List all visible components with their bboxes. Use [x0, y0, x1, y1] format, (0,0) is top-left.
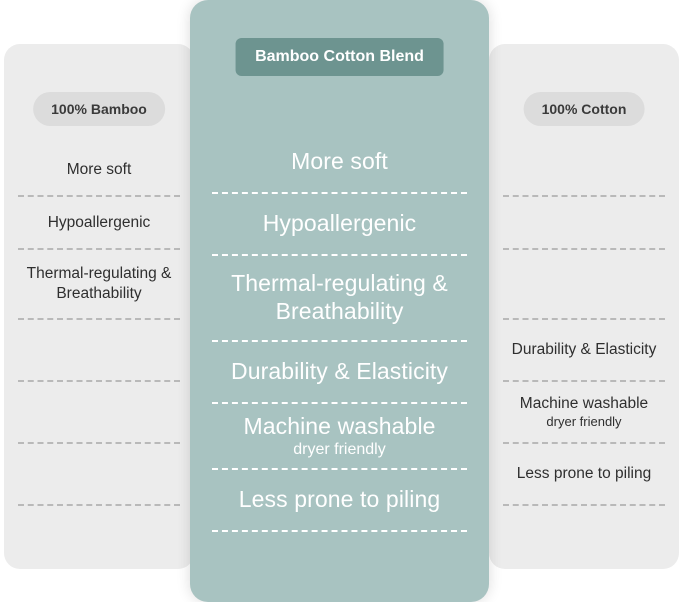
bamboo-feature-row: [18, 382, 180, 444]
cotton-feature-row: [503, 197, 665, 250]
cotton-feature-row: Machine washabledryer friendly: [503, 382, 665, 444]
cotton-feature-row: [503, 250, 665, 320]
bamboo-feature-list: More softHypoallergenicThermal-regulatin…: [18, 144, 180, 506]
cotton-feature-row-label: Less prone to piling: [517, 464, 651, 484]
cotton-card: 100% Cotton Durability & ElasticityMachi…: [489, 44, 679, 569]
blend-feature-row-label: Durability & Elasticity: [231, 358, 448, 386]
blend-feature-row: Hypoallergenic: [212, 194, 467, 256]
comparison-chart: 100% Bamboo More softHypoallergenicTherm…: [0, 0, 679, 602]
bamboo-feature-row-label: Hypoallergenic: [48, 213, 151, 233]
cotton-feature-row-label: Durability & Elasticity: [512, 340, 657, 360]
cotton-card-title: 100% Cotton: [524, 92, 645, 126]
blend-card-title: Bamboo Cotton Blend: [235, 38, 444, 76]
blend-feature-row-label: Hypoallergenic: [263, 210, 417, 238]
bamboo-feature-row-label: More soft: [67, 160, 132, 180]
cotton-feature-row-sublabel: dryer friendly: [546, 414, 621, 430]
bamboo-feature-row: Hypoallergenic: [18, 197, 180, 250]
blend-feature-row-label: Less prone to piling: [239, 486, 440, 514]
bamboo-feature-row: [18, 444, 180, 506]
blend-feature-row: More soft: [212, 132, 467, 194]
bamboo-feature-row: Thermal-regulating & Breathability: [18, 250, 180, 320]
bamboo-cotton-blend-card: Bamboo Cotton Blend More softHypoallerge…: [190, 0, 489, 602]
blend-feature-row: Durability & Elasticity: [212, 342, 467, 404]
blend-feature-row: Machine washabledryer friendly: [212, 404, 467, 470]
blend-feature-row-label: Machine washable: [243, 413, 435, 441]
blend-feature-row: Thermal-regulating & Breathability: [212, 256, 467, 342]
bamboo-feature-row: More soft: [18, 144, 180, 197]
blend-feature-list: More softHypoallergenicThermal-regulatin…: [212, 132, 467, 532]
blend-feature-row-label: Thermal-regulating & Breathability: [212, 270, 467, 325]
cotton-feature-row: Less prone to piling: [503, 444, 665, 506]
cotton-feature-list: Durability & ElasticityMachine washabled…: [503, 144, 665, 506]
blend-feature-row-sublabel: dryer friendly: [293, 440, 385, 459]
bamboo-card: 100% Bamboo More softHypoallergenicTherm…: [4, 44, 194, 569]
cotton-feature-row-label: Machine washable: [520, 394, 648, 414]
blend-feature-row: Less prone to piling: [212, 470, 467, 532]
bamboo-card-title: 100% Bamboo: [33, 92, 165, 126]
bamboo-feature-row: [18, 320, 180, 382]
cotton-feature-row: [503, 144, 665, 197]
cotton-feature-row: Durability & Elasticity: [503, 320, 665, 382]
blend-feature-row-label: More soft: [291, 148, 388, 176]
bamboo-feature-row-label: Thermal-regulating & Breathability: [18, 264, 180, 304]
